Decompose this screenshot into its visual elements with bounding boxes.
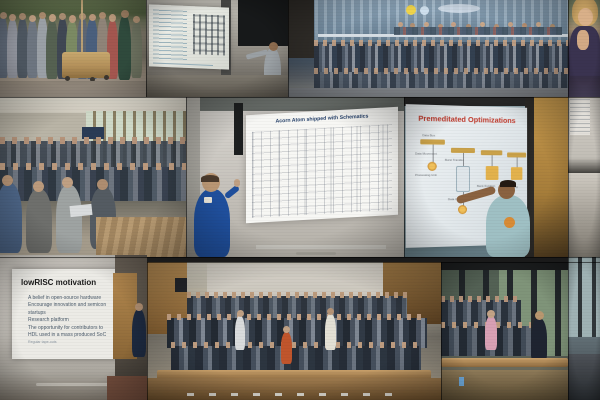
seam <box>147 262 148 400</box>
seam <box>147 262 600 263</box>
seam <box>146 0 147 97</box>
tile-portrait-speaker-right <box>568 0 600 97</box>
tile-portrait-right-lower <box>568 97 600 257</box>
tile-premeditated-optimizations-talk: Premeditated Optimizations Data Bus Data… <box>404 97 568 257</box>
tile-group-photo-lecture-theatre <box>147 262 441 400</box>
photo-lowrisc-room: lowRISC motivation A belief in open-sour… <box>0 255 147 400</box>
seam <box>288 0 289 97</box>
seam <box>0 97 600 98</box>
seam <box>0 257 600 258</box>
photo-portrait-attendee <box>568 0 600 97</box>
pole <box>81 0 83 54</box>
speaker-blue-shirt <box>194 189 230 257</box>
table-row <box>441 358 568 367</box>
photo-lecture-hall <box>0 97 186 257</box>
tile-group-photo-outdoor <box>0 0 146 97</box>
tile-talk-slide-projector <box>146 0 288 97</box>
photo-projector-talk <box>146 0 288 97</box>
seam <box>568 0 569 400</box>
photo-theatre-group <box>147 262 441 400</box>
floor <box>96 217 186 257</box>
photo-collage: Acorn Atom shipped with Schematics Preme… <box>0 0 600 400</box>
slide-title: Acorn Atom shipped with Schematics <box>246 112 398 126</box>
photo-audience-windows <box>441 262 568 400</box>
photo-optimizations-talk: Premeditated Optimizations Data Bus Data… <box>404 97 568 257</box>
tile-conference-group-plaza <box>288 0 568 97</box>
tile-portrait-right-bottom <box>568 257 600 400</box>
slide-title: Premeditated Optimizations <box>406 113 527 125</box>
slide-title: lowRISC motivation <box>21 278 96 287</box>
tile-audience-windows <box>441 262 568 400</box>
tile-acorn-atom-talk: Acorn Atom shipped with Schematics <box>186 97 404 257</box>
photo-group-outdoor <box>0 0 146 97</box>
seam <box>186 97 187 257</box>
tile-lowrisc-motivation-slide: lowRISC motivation A belief in open-sour… <box>0 255 147 400</box>
photo-acorn-talk: Acorn Atom shipped with Schematics <box>186 97 404 257</box>
tile-lecture-hall-audience <box>0 97 186 257</box>
wooden-cart <box>62 52 110 78</box>
seam <box>404 97 405 257</box>
acorn-schematic-slide: Acorn Atom shipped with Schematics <box>246 107 398 223</box>
projected-slide <box>149 4 229 69</box>
photo-right-strip-bottom <box>568 257 600 400</box>
photo-conference-group <box>288 0 568 97</box>
seam <box>441 262 442 400</box>
photo-right-strip-mid <box>568 97 600 257</box>
